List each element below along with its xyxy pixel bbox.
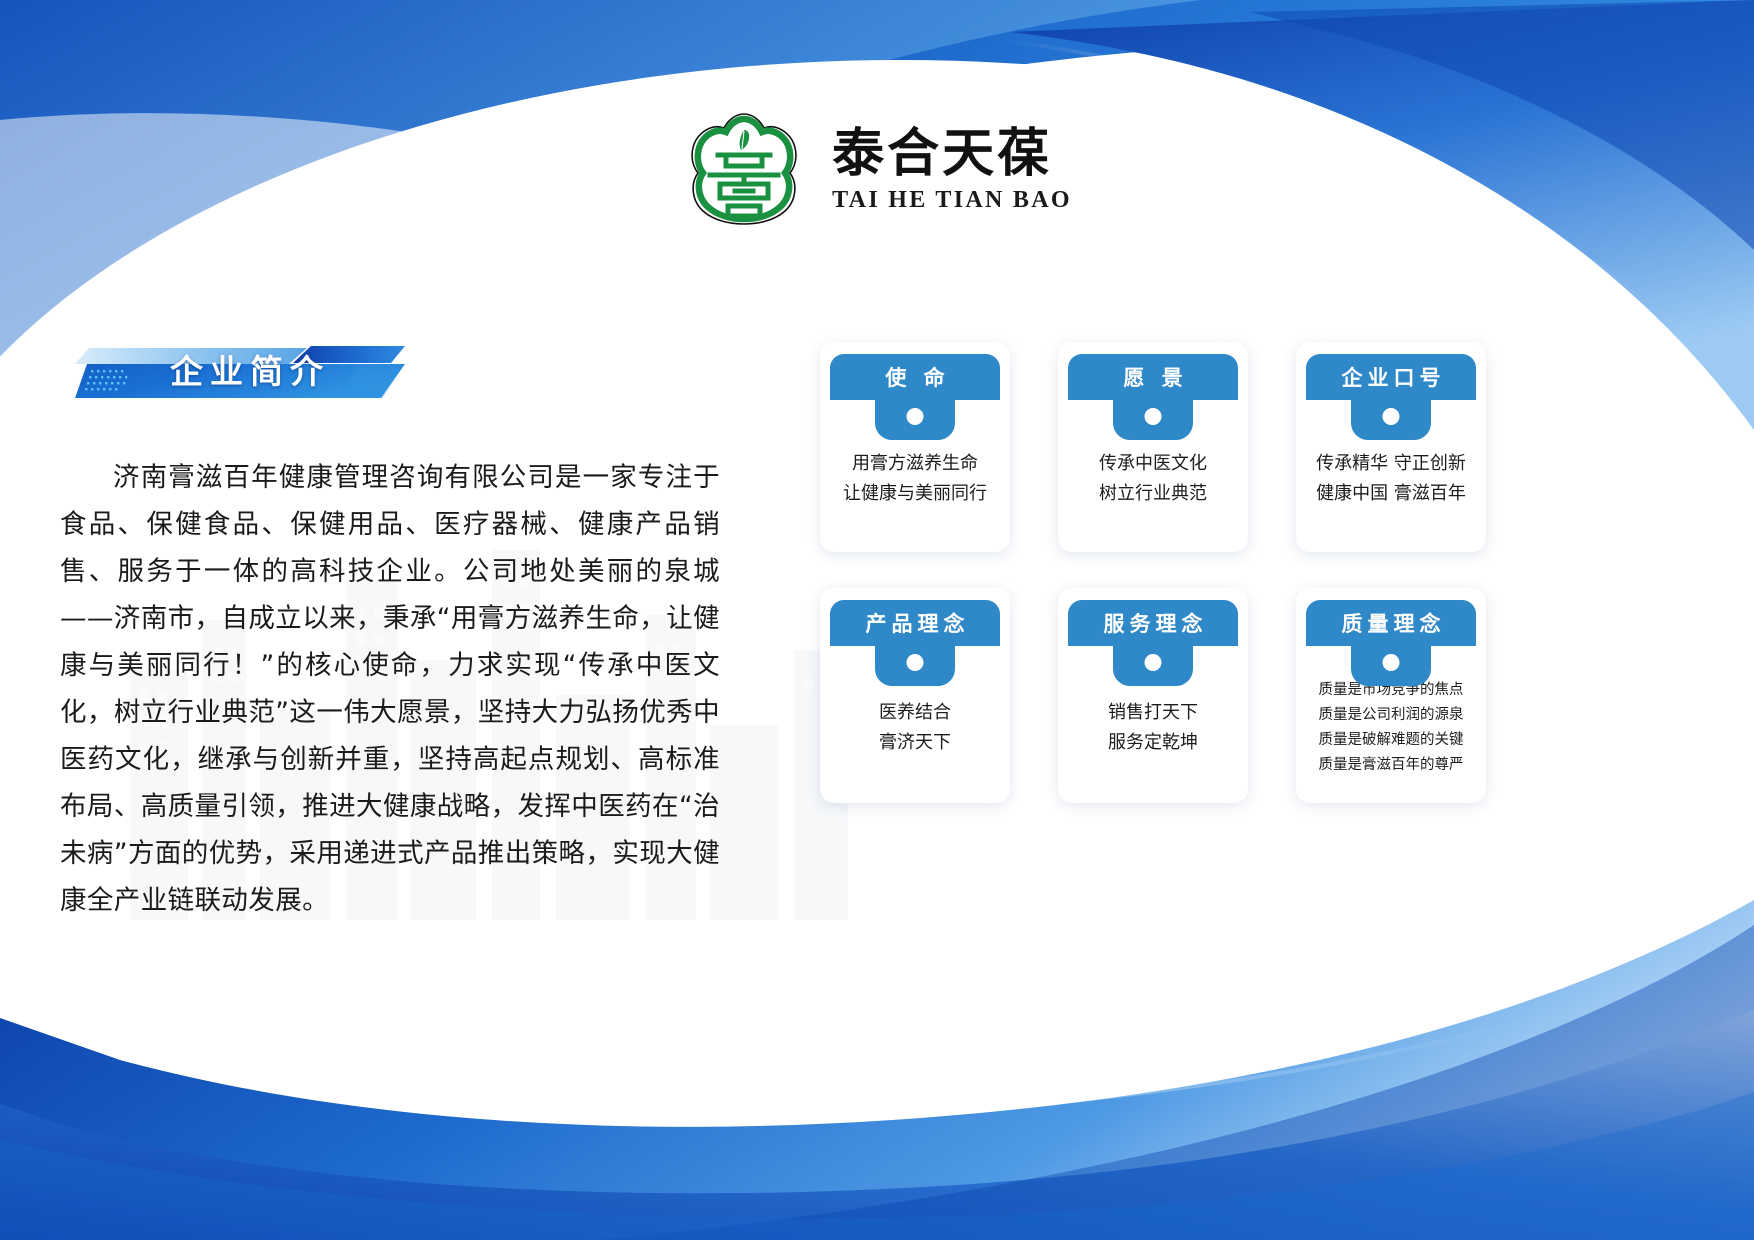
card-content: 医养结合 膏济天下 (820, 672, 1010, 783)
brand-block: 泰合天葆 TAI HE TIAN BAO (832, 126, 1072, 214)
card-cap: 服务理念 (1068, 600, 1238, 646)
card-title: 使 命 (880, 362, 949, 392)
card-title: 质量理念 (1337, 608, 1446, 638)
taihetianbao-seal-icon (682, 108, 806, 232)
tag-hole-icon (1145, 654, 1162, 671)
card-line: 用膏方滋养生命 (852, 449, 978, 479)
poster-canvas: 泰合天葆 TAI HE TIAN BAO (0, 0, 1754, 1240)
card-cap: 企业口号 (1306, 354, 1476, 400)
profile-paragraph: 济南膏滋百年健康管理咨询有限公司是一家专注于食品、保健食品、保健用品、医疗器械、… (60, 454, 720, 924)
card-cap: 质量理念 (1306, 600, 1476, 646)
tag-hole-icon (907, 654, 924, 671)
card-mission[interactable]: 使 命 用膏方滋养生命 让健康与美丽同行 (820, 342, 1010, 552)
card-line: 健康中国 膏滋百年 (1316, 479, 1466, 509)
card-line: 质量是膏滋百年的尊严 (1319, 753, 1464, 778)
card-title: 服务理念 (1099, 608, 1208, 638)
card-title: 愿 景 (1118, 362, 1187, 392)
tag-hole-icon (1145, 408, 1162, 425)
card-content: 传承中医文化 树立行业典范 (1058, 426, 1248, 532)
card-content: 传承精华 守正创新 健康中国 膏滋百年 (1296, 426, 1486, 532)
poster-header: 泰合天葆 TAI HE TIAN BAO (0, 108, 1754, 232)
card-line: 服务定乾坤 (1108, 728, 1198, 758)
card-line: 医养结合 (879, 698, 951, 728)
card-vision[interactable]: 愿 景 传承中医文化 树立行业典范 (1058, 342, 1248, 552)
card-title: 企业口号 (1337, 362, 1446, 392)
card-line: 膏济天下 (879, 728, 951, 758)
card-cap: 使 命 (830, 354, 1000, 400)
section-title-text: 企业简介 (135, 345, 365, 393)
card-line: 树立行业典范 (1099, 479, 1207, 509)
card-content: 质量是市场竞争的焦点 质量是公司利润的源泉 质量是破解难题的关键 质量是膏滋百年… (1296, 672, 1486, 783)
card-product-philosophy[interactable]: 产品理念 医养结合 膏济天下 (820, 588, 1010, 803)
card-service-philosophy[interactable]: 服务理念 销售打天下 服务定乾坤 (1058, 588, 1248, 803)
company-name-en: TAI HE TIAN BAO (832, 187, 1072, 214)
card-quality-philosophy[interactable]: 质量理念 质量是市场竞争的焦点 质量是公司利润的源泉 质量是破解难题的关键 质量… (1296, 588, 1486, 803)
company-profile-body: 济南膏滋百年健康管理咨询有限公司是一家专注于食品、保健食品、保健用品、医疗器械、… (0, 454, 760, 924)
company-logo (682, 108, 806, 232)
card-line: 传承精华 守正创新 (1316, 449, 1466, 479)
tag-hole-icon (1383, 408, 1400, 425)
company-name-cn: 泰合天葆 (832, 126, 1072, 182)
philosophy-card-grid: 使 命 用膏方滋养生命 让健康与美丽同行 愿 景 传承中医文化 树立行业典范 (820, 342, 1520, 803)
card-cap: 愿 景 (1068, 354, 1238, 400)
tag-hole-icon (1383, 654, 1400, 671)
card-slogan[interactable]: 企业口号 传承精华 守正创新 健康中国 膏滋百年 (1296, 342, 1486, 552)
section-title-banner: 企业简介 (75, 330, 405, 408)
tag-hole-icon (907, 408, 924, 425)
card-line: 质量是公司利润的源泉 (1319, 703, 1464, 728)
company-profile-section: 企业简介 济南膏滋百年健康管理咨询有限公司是一家专注于食品、保健食品、保健用品、… (0, 330, 800, 924)
card-line: 质量是破解难题的关键 (1319, 728, 1464, 753)
card-line: 销售打天下 (1108, 698, 1198, 728)
card-title: 产品理念 (861, 608, 970, 638)
card-content: 用膏方滋养生命 让健康与美丽同行 (820, 426, 1010, 532)
card-cap: 产品理念 (830, 600, 1000, 646)
card-content: 销售打天下 服务定乾坤 (1058, 672, 1248, 783)
card-line: 传承中医文化 (1099, 449, 1207, 479)
card-line: 让健康与美丽同行 (843, 479, 987, 509)
